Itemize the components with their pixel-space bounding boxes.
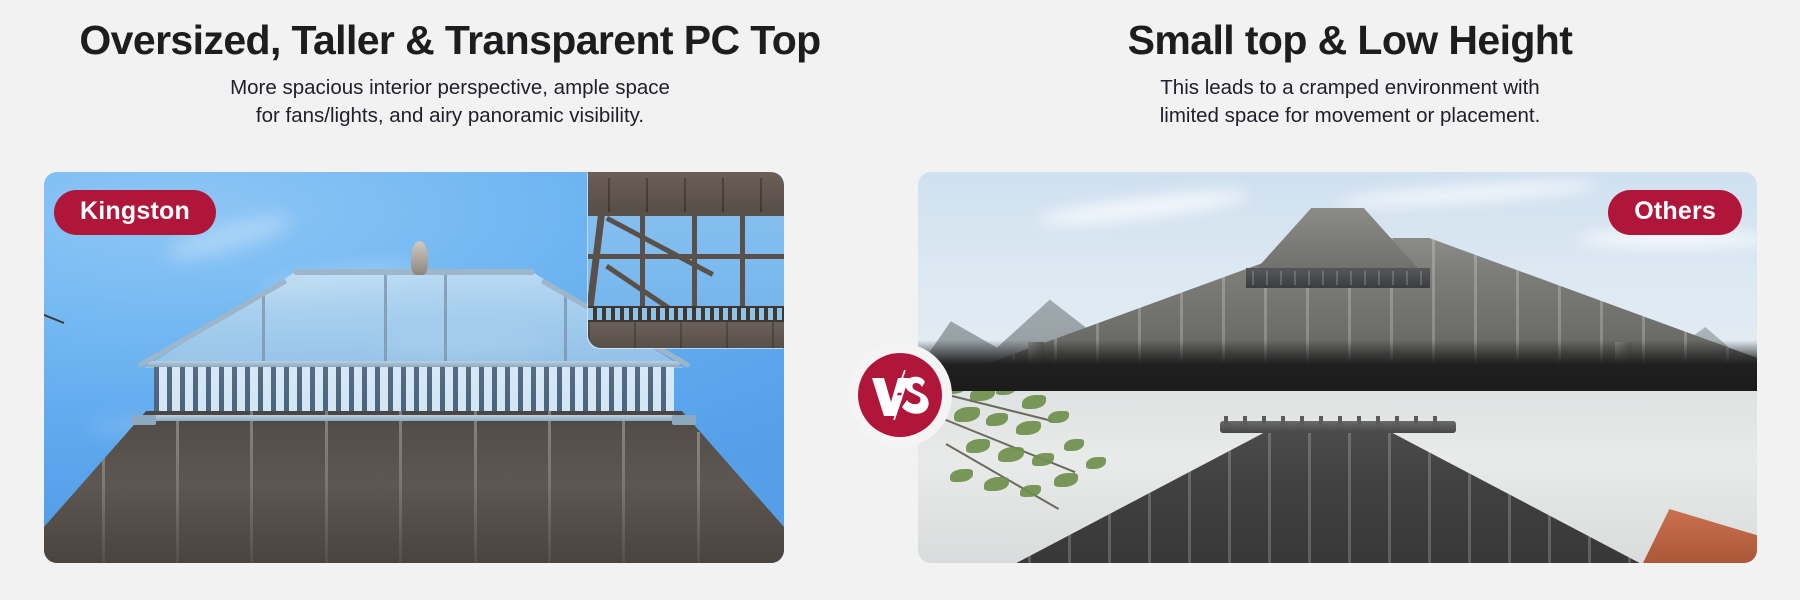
versus-circle xyxy=(858,353,942,437)
inset-vertical-beam xyxy=(692,210,697,308)
left-column-heading: Oversized, Taller & Transparent PC Top M… xyxy=(0,18,900,130)
right-subtitle-line-2: limited space for movement or placement. xyxy=(900,102,1800,130)
left-subtitle-line-1: More spacious interior perspective, ampl… xyxy=(0,74,900,102)
versus-lightning-icon xyxy=(869,370,931,420)
inset-roof-frame xyxy=(588,172,784,212)
right-subtitle-line-1: This leads to a cramped environment with xyxy=(900,74,1800,102)
eave-right xyxy=(672,415,696,425)
inset-vertical-beam xyxy=(640,210,645,308)
inset-vertical-beam xyxy=(740,210,745,308)
right-subtitle: This leads to a cramped environment with… xyxy=(900,74,1800,131)
tree-foliage xyxy=(936,391,1126,531)
louver-vent-band xyxy=(154,363,674,415)
interior-view-inset-photo xyxy=(588,172,784,348)
left-subtitle: More spacious interior perspective, ampl… xyxy=(0,74,900,131)
badge-kingston: Kingston xyxy=(54,190,216,235)
eave-left xyxy=(132,415,156,425)
left-title: Oversized, Taller & Transparent PC Top xyxy=(0,18,900,64)
metal-hardtop-roof xyxy=(44,411,784,563)
louver-rail-bottom xyxy=(148,415,680,421)
louver-rail-top xyxy=(148,361,680,367)
interior-shadow xyxy=(918,340,1757,398)
comparison-banner: Oversized, Taller & Transparent PC Top M… xyxy=(0,0,1800,600)
competitor-cupola-vent xyxy=(1246,268,1430,288)
versus-badge xyxy=(848,343,952,447)
badge-others: Others xyxy=(1608,190,1742,235)
inset-horizontal-beam xyxy=(588,254,784,259)
right-title: Small top & Low Height xyxy=(900,18,1800,64)
left-subtitle-line-2: for fans/lights, and airy panoramic visi… xyxy=(0,102,900,130)
inset-base-beam xyxy=(588,322,784,348)
roof-finial xyxy=(411,241,428,275)
competitor-ridge-vent xyxy=(1220,421,1456,433)
inset-lattice-vent xyxy=(588,306,784,322)
competitor-photo-lower xyxy=(918,391,1757,563)
right-column-heading: Small top & Low Height This leads to a c… xyxy=(900,18,1800,130)
